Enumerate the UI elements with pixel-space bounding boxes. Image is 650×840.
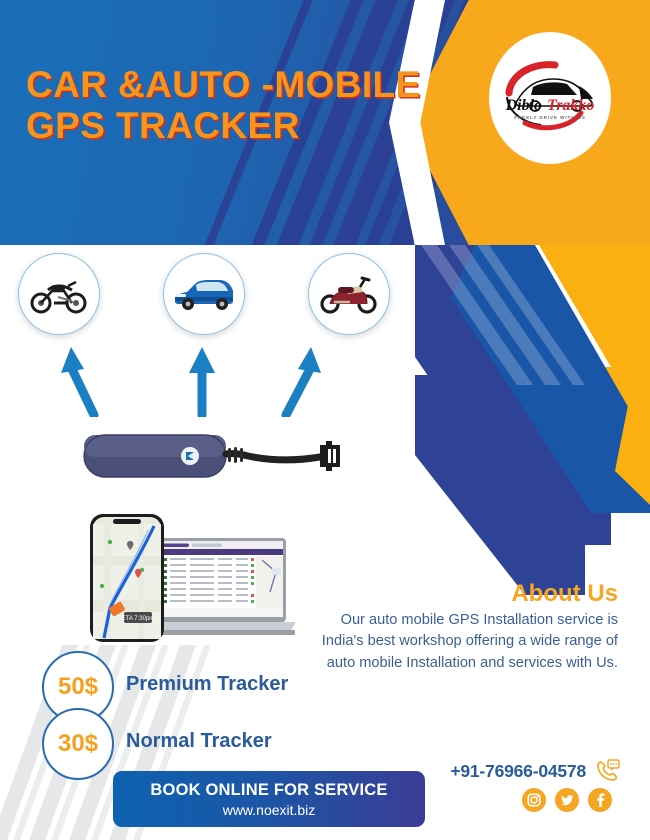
social-links	[522, 788, 612, 812]
phone-number: +91-76966-04578	[450, 761, 586, 782]
tracker-device-icon	[82, 423, 372, 485]
geometric-shapes	[415, 245, 650, 595]
book-online-button[interactable]: BOOK ONLINE FOR SERVICE www.noexit.biz	[113, 771, 425, 827]
about-heading: About Us	[511, 580, 618, 608]
brand-logo: DibloTrakko FREELY DRIVE WITH US	[489, 32, 611, 164]
vehicle-circle-scooter	[308, 253, 390, 335]
page-title: CAR &AUTO -MOBILE GPS TRACKER	[26, 64, 456, 147]
scooter-icon	[318, 273, 380, 315]
right-geometric-panel	[415, 245, 650, 595]
price-value-normal: 30$	[58, 730, 98, 758]
facebook-icon[interactable]	[588, 788, 612, 812]
title-line-1: CAR &AUTO -MOBILE	[26, 64, 456, 105]
price-value-premium: 50$	[58, 673, 98, 701]
contact-phone-row[interactable]: +91-76966-04578	[450, 758, 620, 784]
title-line-2: GPS TRACKER	[26, 105, 456, 146]
logo-wordmark: DibloTrakko	[495, 97, 605, 115]
car-icon	[171, 275, 237, 313]
app-dashboard-mockup: ETA 7:30pm	[80, 500, 295, 650]
motorcycle-icon	[28, 273, 90, 315]
twitter-icon[interactable]	[555, 788, 579, 812]
book-button-label: BOOK ONLINE FOR SERVICE	[150, 781, 387, 800]
arrow-to-scooter	[278, 345, 324, 422]
arrow-to-car	[185, 345, 219, 422]
price-badge-normal: 30$	[42, 708, 114, 780]
logo-name-part1: Diblo	[506, 97, 542, 114]
svg-text:ETA 7:30pm: ETA 7:30pm	[122, 616, 155, 622]
gps-tracker-device	[82, 423, 372, 490]
arrow-to-motorcycle	[58, 345, 104, 422]
price-label-premium: Premium Tracker	[126, 673, 288, 696]
vehicle-circle-motorcycle	[18, 253, 100, 335]
about-body: Our auto mobile GPS Installation service…	[313, 610, 618, 674]
logo-name-part2: Trakko	[547, 97, 594, 114]
vehicle-circle-car	[163, 253, 245, 335]
instagram-icon[interactable]	[522, 788, 546, 812]
logo-tagline: FREELY DRIVE WITH US	[495, 115, 605, 120]
book-button-url: www.noexit.biz	[223, 802, 316, 818]
price-label-normal: Normal Tracker	[126, 730, 272, 753]
poster-canvas: CAR &AUTO -MOBILE GPS TRACKER DibloTrakk…	[0, 0, 650, 840]
phone-call-icon	[594, 758, 620, 784]
